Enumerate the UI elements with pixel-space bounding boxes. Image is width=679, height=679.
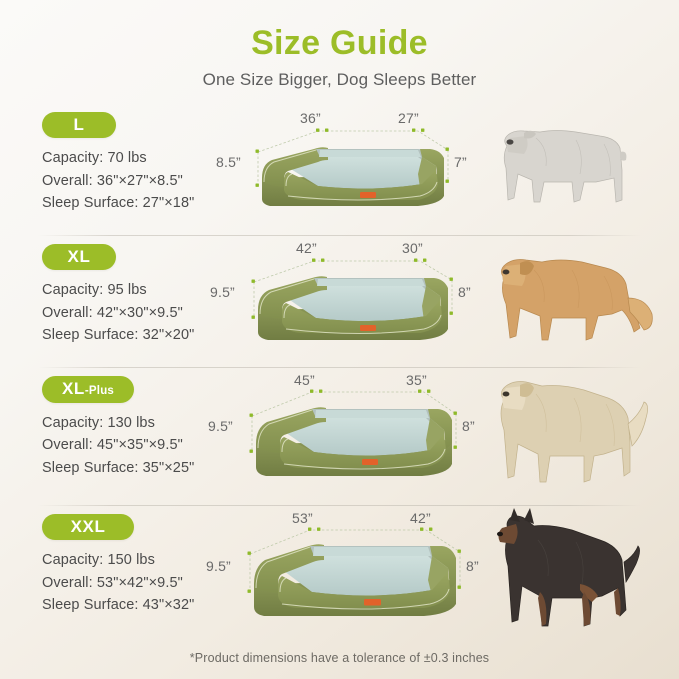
dog-photo-golden-retriever — [480, 236, 679, 368]
dim-depth: 27” — [398, 110, 419, 126]
page-subtitle: One Size Bigger, Dog Sleeps Better — [0, 70, 679, 90]
dim-height-right: 7” — [454, 154, 467, 170]
size-badge-label: XL — [62, 380, 85, 397]
spec-capacity: Capacity: 95 lbs — [42, 279, 222, 301]
size-badge-label: XL — [68, 248, 91, 265]
spec-column: XL-Plus Capacity: 130 lbs Overall: 45"×3… — [0, 368, 222, 479]
spec-overall: Overall: 42"×30"×9.5" — [42, 302, 222, 324]
size-badge-label: XXL — [71, 518, 106, 535]
dim-height-left: 9.5” — [206, 558, 231, 574]
spec-column: XL Capacity: 95 lbs Overall: 42"×30"×9.5… — [0, 236, 222, 346]
dog-photo-yellow-labrador — [480, 368, 679, 506]
spec-sleep-surface: Sleep Surface: 32"×20" — [42, 324, 222, 346]
dim-depth: 30” — [402, 240, 423, 256]
spec-sleep-surface: Sleep Surface: 43"×32" — [42, 594, 222, 616]
dim-height-right: 8” — [458, 284, 471, 300]
size-badge-xxl: XXL — [42, 514, 134, 540]
spec-capacity: Capacity: 70 lbs — [42, 147, 222, 169]
dog-bed-drawing — [222, 506, 480, 640]
dim-depth: 35” — [406, 372, 427, 388]
spec-overall: Overall: 36"×27"×8.5" — [42, 170, 222, 192]
dim-height-right: 8” — [466, 558, 479, 574]
dim-height-left: 8.5” — [216, 154, 241, 170]
dim-width: 45” — [294, 372, 315, 388]
spec-lines: Capacity: 130 lbs Overall: 45"×35"×9.5" … — [42, 412, 222, 479]
bed-illustration-xxl: 53” 42” 9.5” 8” — [222, 506, 480, 644]
size-rows: L Capacity: 70 lbs Overall: 36"×27"×8.5"… — [0, 104, 679, 644]
spec-capacity: Capacity: 130 lbs — [42, 412, 222, 434]
dog-bed-drawing — [222, 104, 480, 232]
spec-column: L Capacity: 70 lbs Overall: 36"×27"×8.5"… — [0, 104, 222, 214]
spec-lines: Capacity: 150 lbs Overall: 53"×42"×9.5" … — [42, 549, 222, 616]
spec-overall: Overall: 53"×42"×9.5" — [42, 572, 222, 594]
size-row-xl-plus: XL-Plus Capacity: 130 lbs Overall: 45"×3… — [0, 368, 679, 506]
size-badge-l: L — [42, 112, 116, 138]
size-row-xxl: XXL Capacity: 150 lbs Overall: 53"×42"×9… — [0, 506, 679, 644]
spec-lines: Capacity: 95 lbs Overall: 42"×30"×9.5" S… — [42, 279, 222, 346]
size-badge-xl: XL — [42, 244, 116, 270]
size-row-l: L Capacity: 70 lbs Overall: 36"×27"×8.5"… — [0, 104, 679, 236]
spec-column: XXL Capacity: 150 lbs Overall: 53"×42"×9… — [0, 506, 222, 616]
dog-photo-doberman — [480, 506, 679, 644]
size-badge-xl-plus: XL-Plus — [42, 376, 134, 403]
dim-width: 42” — [296, 240, 317, 256]
page-title: Size Guide — [0, 24, 679, 63]
dim-width: 53” — [292, 510, 313, 526]
spec-lines: Capacity: 70 lbs Overall: 36"×27"×8.5" S… — [42, 147, 222, 214]
spec-sleep-surface: Sleep Surface: 27"×18" — [42, 192, 222, 214]
dim-height-left: 9.5” — [208, 418, 233, 434]
dog-bed-drawing — [222, 368, 480, 502]
dim-height-right: 8” — [462, 418, 475, 434]
spec-sleep-surface: Sleep Surface: 35"×25" — [42, 457, 222, 479]
bed-illustration-xl: 42” 30” 9.5” 8” — [222, 236, 480, 368]
dim-height-left: 9.5” — [210, 284, 235, 300]
spec-capacity: Capacity: 150 lbs — [42, 549, 222, 571]
dog-silhouette — [480, 368, 665, 502]
bed-illustration-l: 36” 27” 8.5” 7” — [222, 104, 480, 236]
dog-photo-bulldog — [480, 104, 679, 236]
dim-width: 36” — [300, 110, 321, 126]
size-guide-infographic: Size Guide One Size Bigger, Dog Sleeps B… — [0, 0, 679, 679]
size-row-xl: XL Capacity: 95 lbs Overall: 42"×30"×9.5… — [0, 236, 679, 368]
dog-bed-drawing — [222, 236, 480, 364]
header: Size Guide One Size Bigger, Dog Sleeps B… — [0, 0, 679, 90]
bed-illustration-xl-plus: 45” 35” 9.5” 8” — [222, 368, 480, 506]
dog-silhouette — [480, 104, 665, 232]
dog-silhouette — [480, 506, 665, 640]
dog-silhouette — [480, 236, 665, 364]
size-badge-label: L — [74, 116, 85, 133]
dim-depth: 42” — [410, 510, 431, 526]
size-badge-suffix: -Plus — [85, 386, 114, 398]
spec-overall: Overall: 45"×35"×9.5" — [42, 434, 222, 456]
footer-disclaimer: *Product dimensions have a tolerance of … — [0, 651, 679, 665]
